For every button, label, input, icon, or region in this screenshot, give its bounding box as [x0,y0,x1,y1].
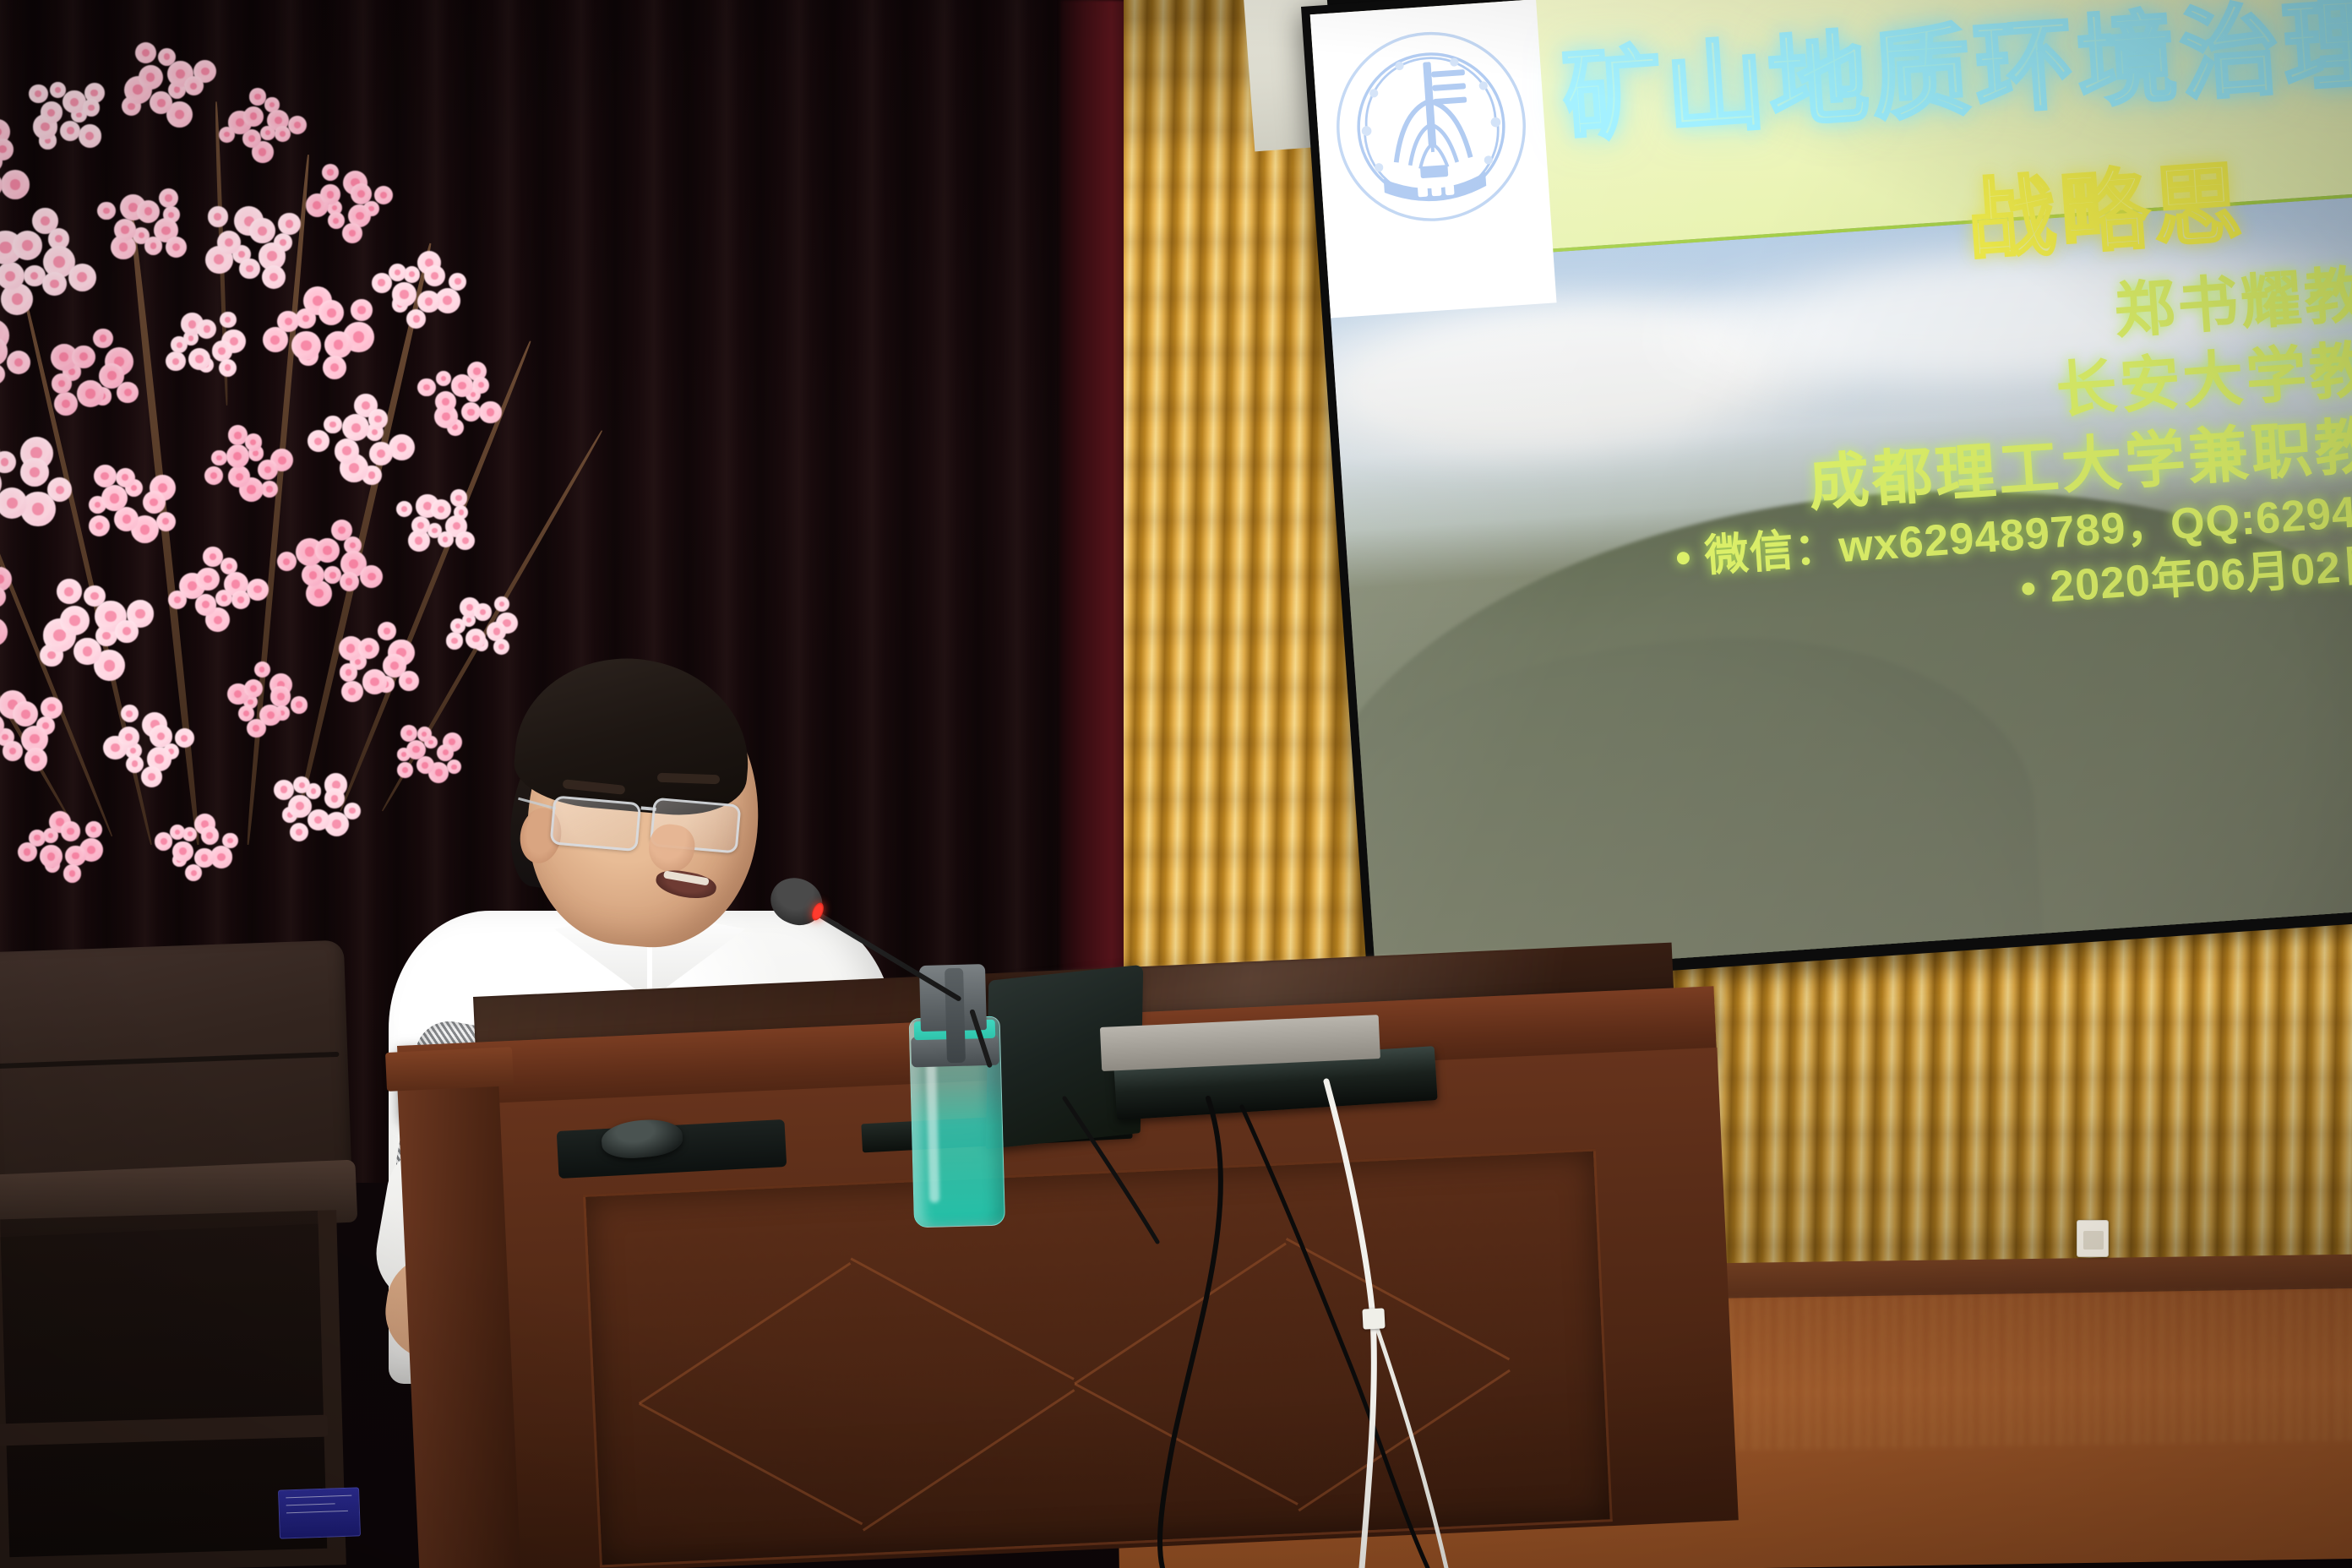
blossom-flower [275,126,291,142]
asset-tag-label [278,1487,361,1538]
blossom-flower [288,116,307,134]
blossom-flower [288,795,311,818]
blossom-flower [392,282,416,306]
blossom-flower [40,845,63,868]
blossom-flower [436,371,451,386]
blossom-flower [212,340,233,362]
blossom-flower [291,696,308,714]
blossom-flower [450,489,468,507]
blossom-flower [479,401,502,424]
blossom-flower [63,864,81,882]
blossom-flower [461,402,481,422]
blossom-flower [378,622,396,640]
blossom-flower [417,291,440,313]
blossom-flower [228,465,250,487]
blossom-flower [77,380,104,407]
blossom-flower [0,618,8,646]
blossom-flower [220,312,237,329]
blossom-flower [93,329,113,349]
blossom-flower [277,552,297,571]
blossom-flower [249,88,267,106]
blossom-flower [13,231,43,261]
blossom-flower [274,780,294,800]
blossom-flower [335,438,360,464]
speaker-hair [511,649,757,820]
podium-inlay-line [863,1389,1075,1532]
photo-scene: 矿山地质环境治理与修 战略思 郑书耀教 长安大学教 成都理工大学兼职教 • 微信… [0,0,2352,1568]
blossom-flower [424,265,445,286]
blossom-flower [61,821,80,841]
projection-screen: 矿山地质环境治理与修 战略思 郑书耀教 长安大学教 成都理工大学兼职教 • 微信… [1310,0,2352,979]
blossom-flower [342,414,369,441]
blossom-flower [184,76,204,95]
blossom-flower [243,106,264,127]
blossom-flower [342,223,362,243]
blossom-flower [278,213,300,235]
blossom-flower [291,331,321,361]
blossom-flower [156,512,176,531]
blossom-flower [431,499,451,520]
blossom-flower [0,139,14,161]
blossom-flower [42,272,66,296]
blossom-flower [137,200,160,223]
slide-credits-block: 郑书耀教 长安大学教 成都理工大学兼职教 • 微信：wx629489789，QQ… [1657,258,2352,640]
leather-armchair [0,946,372,1568]
blossom-flower [351,299,373,321]
blossom-flower [196,568,219,591]
blossom-flower [204,466,223,485]
blossom-flower [417,378,435,396]
blossom-flower [29,84,47,103]
blossom-flower [185,864,202,881]
blossom-flower [60,121,80,141]
blossom-flower [374,186,393,204]
blossom-flower [449,273,466,291]
blossom-flower [139,65,163,90]
blossom-flower [323,356,346,379]
glasses-lens-left [550,795,642,852]
blossom-flower [79,124,101,147]
blossom-flower [389,264,406,281]
blossom-flower [219,359,237,377]
blossom-flower [3,741,23,761]
slide-logo-panel [1310,0,1557,318]
blossom-flower [13,701,38,727]
blossom-flower [57,579,82,604]
blossom-flower [7,351,31,375]
blossom-flower [85,821,102,838]
blossom-flower [249,218,275,244]
blossom-flower [135,42,156,63]
blossom-flower [29,830,46,847]
blossom-flower [126,755,144,773]
blossom-flower [159,188,179,209]
blossom-flower [121,705,139,722]
blossom-flower [54,392,78,416]
blossom-flower [172,841,193,863]
blossom-flower [247,719,265,738]
blossom-flower [41,101,63,123]
blossom-flower [450,618,465,634]
blossom-flower [308,809,329,831]
blossom-flower [277,311,299,333]
blossom-flower [438,531,454,547]
blossom-flower [197,319,216,339]
blossom-flower [208,206,228,226]
blossom-flower [226,444,249,467]
blossom-flower [406,309,426,329]
blossom-flower [24,748,48,771]
blossom-flower [247,579,268,600]
blossom-flower [89,515,110,536]
projection-screen-frame: 矿山地质环境治理与修 战略思 郑书耀教 长安大学教 成都理工大学兼职教 • 微信… [1301,0,2352,991]
blossom-flower [290,823,308,841]
blossom-flower [97,202,116,220]
blossom-flower [369,442,393,465]
podium-diamond-inlay [632,1200,1566,1563]
blossom-flower [118,727,139,748]
blossom-flower [324,331,351,358]
blossom-flower [217,231,242,255]
blossom-flower [68,264,96,291]
blossom-flower [254,661,270,678]
changan-university-logo-icon [1326,22,1535,231]
blossom-flower [143,491,166,514]
blossom-flower [328,212,345,229]
blossom-flower [94,465,117,487]
blossom-flower [258,460,278,480]
blossom-flower [166,351,185,371]
blossom-flower [368,409,389,429]
podium-inlay-line [1074,1243,1287,1386]
podium-inlay-line [639,1402,863,1525]
blossom-flower [0,451,16,473]
blossom-flower [83,99,100,116]
blossom-flower [322,164,339,181]
blossom-flower [411,516,430,535]
blossom-flower [65,846,86,867]
blossom-flower [144,237,163,255]
blossom-flower [201,826,220,845]
podium-inlay-line [639,1262,852,1405]
blossom-flower [360,565,383,588]
blossom-flower [175,728,194,748]
bottle-carry-strap [945,968,966,1064]
blossom-flower [245,433,262,450]
blossom-flower [166,237,187,258]
blossom-flower [203,547,223,567]
blossom-flower [72,346,95,369]
blossom-flower [262,265,286,290]
power-outlet-icon [2077,1220,2109,1257]
blossom-flower [117,382,139,404]
blossom-flower [396,501,412,517]
blossom-flower [0,364,5,384]
blossom-flower [20,458,49,487]
podium-inlay-line [1286,1238,1510,1360]
blossom-flower [455,531,474,550]
blossom-flower [73,638,101,665]
blossom-flower [308,430,329,452]
podium-inlay-line [1074,1383,1298,1505]
blossom-flower [315,538,340,563]
blossom-flower [239,259,259,279]
blossom-flower [114,219,135,240]
podium-inlay-line [1298,1369,1511,1512]
blossom-flower [171,336,188,353]
blossom-flower [494,596,509,612]
blossom-flower [211,450,227,466]
blossom-flower [116,468,135,487]
blossom-flower [52,373,72,394]
cable-clip [1362,1308,1385,1329]
podium-inlay-line [850,1257,1074,1380]
blossom-flower [435,391,456,412]
water-bottle[interactable] [907,964,1005,1228]
blossom-flower [474,603,492,621]
blossom-flower [318,300,344,325]
blossom-flower [472,377,489,394]
blossom-flower [270,686,291,706]
podium-left-cap [385,1047,514,1092]
blossom-flower [60,606,90,635]
blossom-flower [340,572,359,591]
blossom-flower [324,416,342,434]
blossom-flower [115,620,139,644]
blossom-flower [141,766,162,787]
blossom-flower [1,170,30,199]
blossom-flower [41,697,63,719]
blossom-flower [231,591,250,609]
